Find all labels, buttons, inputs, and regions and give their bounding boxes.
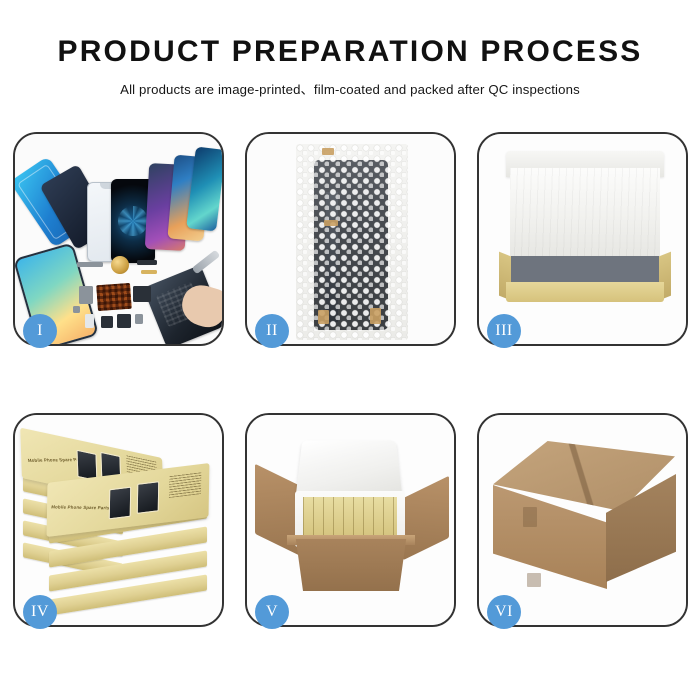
process-step-panel-2[interactable]: II bbox=[245, 132, 456, 346]
process-step-panel-3[interactable]: III bbox=[477, 132, 688, 346]
spare-part bbox=[73, 306, 80, 313]
spare-part bbox=[135, 314, 143, 324]
spare-part bbox=[101, 316, 113, 328]
panel-2-image bbox=[247, 134, 454, 344]
step-badge-3: III bbox=[487, 314, 521, 348]
page-subtitle: All products are image-printed、film-coat… bbox=[0, 68, 700, 98]
step-badge-1: I bbox=[23, 314, 57, 348]
bubble-wrap-layer bbox=[511, 256, 659, 284]
spare-part bbox=[133, 286, 151, 302]
spare-part bbox=[137, 260, 157, 265]
carton-front-face bbox=[291, 539, 411, 591]
white-foam-sheet bbox=[510, 168, 660, 260]
spare-part bbox=[117, 314, 131, 328]
inner-box-packing-photo bbox=[479, 134, 686, 344]
tape-piece bbox=[318, 310, 329, 324]
bubble-wrap-bag bbox=[296, 144, 408, 340]
step-badge-4: IV bbox=[23, 595, 57, 629]
box-brand-label: Mobile Phone Spare Parts bbox=[51, 504, 110, 510]
spare-part bbox=[77, 262, 103, 267]
panel-1-image bbox=[15, 134, 222, 344]
process-step-panel-5[interactable]: V bbox=[245, 413, 456, 627]
spare-part bbox=[79, 286, 93, 304]
sealed-carton-photo bbox=[479, 415, 686, 625]
lid-spec-lines bbox=[169, 472, 201, 498]
spare-part bbox=[141, 270, 157, 274]
process-step-panel-1[interactable]: I bbox=[13, 132, 224, 346]
stacked-boxes-photo: Mobile Phone Spare Parts Mobile Phone Sp… bbox=[15, 415, 222, 625]
box-stack: Mobile Phone Spare Parts Mobile Phone Sp… bbox=[15, 415, 222, 625]
raw-components-photo bbox=[15, 134, 222, 344]
spare-part bbox=[85, 314, 94, 328]
bubble-texture bbox=[296, 144, 408, 340]
lid-window-image bbox=[137, 481, 160, 514]
panel-5-image bbox=[247, 415, 454, 625]
page-header: PRODUCT PREPARATION PROCESS All products… bbox=[0, 0, 700, 98]
tape-piece bbox=[324, 220, 338, 226]
step-badge-5: V bbox=[255, 595, 289, 629]
bubble-wrapped-screen-photo bbox=[247, 134, 454, 344]
tweezers-tool bbox=[192, 250, 221, 275]
tape-piece bbox=[322, 148, 334, 155]
page-title: PRODUCT PREPARATION PROCESS bbox=[0, 0, 700, 68]
carton-flap-right bbox=[403, 476, 449, 560]
chip-array bbox=[96, 283, 132, 311]
yellow-box-front bbox=[506, 282, 664, 302]
carton-tab bbox=[527, 573, 541, 587]
panel-6-image bbox=[479, 415, 686, 625]
speaker-module bbox=[111, 256, 129, 274]
step-badge-2: II bbox=[255, 314, 289, 348]
panel-4-image: Mobile Phone Spare Parts Mobile Phone Sp… bbox=[15, 415, 222, 625]
panel-3-image bbox=[479, 134, 686, 344]
lid-window-image bbox=[109, 487, 132, 520]
carton-tab bbox=[523, 507, 537, 527]
process-step-panel-4[interactable]: Mobile Phone Spare Parts Mobile Phone Sp… bbox=[13, 413, 224, 627]
carton-loading-photo bbox=[247, 415, 454, 625]
yellow-boxes-inside bbox=[303, 497, 397, 539]
step-badge-6: VI bbox=[487, 595, 521, 629]
process-step-grid: I II bbox=[13, 132, 688, 627]
process-step-panel-6[interactable]: VI bbox=[477, 413, 688, 627]
tape-piece bbox=[370, 308, 381, 324]
